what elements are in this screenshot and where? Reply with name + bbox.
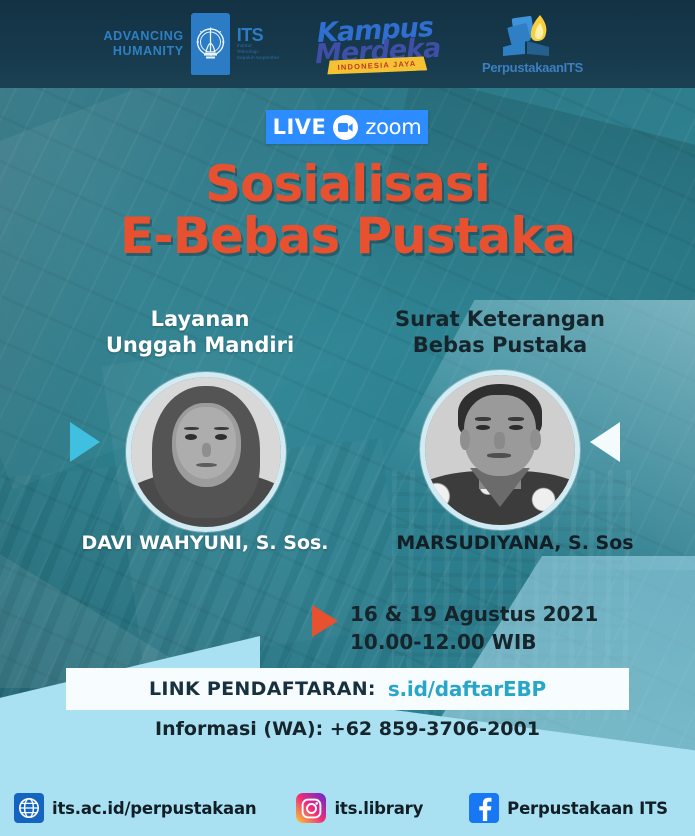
its-abbr: ITS xyxy=(237,27,280,43)
speaker-topic-right-line2: Bebas Pustaka xyxy=(375,332,625,358)
page-title: Sosialisasi E-Bebas Pustaka xyxy=(0,158,695,262)
kampus-merdeka-ribbon-text: INDONESIA JAYA xyxy=(338,59,417,72)
speaker-name-right: MARSUDIYANA, S. Sos xyxy=(370,532,660,554)
logo-kampus-merdeka: Kampus Merdeka INDONESIA JAYA xyxy=(315,11,437,77)
footer-label-website: its.ac.id/perpustakaan xyxy=(52,799,256,818)
schedule-time: 10.00-12.00 WIB xyxy=(350,628,598,656)
registration-label: LINK PENDAFTARAN: xyxy=(149,678,376,700)
live-zoom-badge: LIVE zoom xyxy=(266,110,428,144)
footer-bar: its.ac.id/perpustakaan its.library Perpu… xyxy=(0,780,695,836)
speaker-photo-marsudiyana xyxy=(420,370,580,530)
title-line1: Sosialisasi xyxy=(205,155,490,213)
logo-its: ADVANCING HUMANITY ITS xyxy=(104,13,280,75)
instagram-icon xyxy=(296,793,326,823)
registration-link-bar[interactable]: LINK PENDAFTARAN: s.id/daftarEBP xyxy=(66,668,629,710)
footer-item-instagram[interactable]: its.library xyxy=(296,793,423,823)
its-tagline-line2: HUMANITY xyxy=(104,44,184,59)
title-line2: E-Bebas Pustaka xyxy=(0,210,695,262)
speaker-photo-davi-wahyuni xyxy=(126,372,286,532)
header-logos: ADVANCING HUMANITY ITS xyxy=(0,0,695,88)
footer-item-website[interactable]: its.ac.id/perpustakaan xyxy=(14,793,256,823)
schedule-date: 16 & 19 Agustus 2021 xyxy=(350,600,598,628)
its-tagline-line1: ADVANCING xyxy=(104,29,184,44)
avatar xyxy=(131,377,281,527)
book-flame-icon xyxy=(499,11,565,57)
poster-canvas: ADVANCING HUMANITY ITS xyxy=(0,0,695,836)
footer-label-facebook: Perpustakaan ITS xyxy=(507,799,668,818)
live-label: LIVE xyxy=(273,115,327,139)
zoom-label: zoom xyxy=(365,115,421,139)
video-camera-icon xyxy=(333,115,358,140)
triangle-right-icon-left xyxy=(70,422,100,462)
speaker-topic-right: Surat Keterangan Bebas Pustaka xyxy=(375,306,625,358)
logo-perpustakaan-its: PerpustakaanITS xyxy=(473,9,591,79)
its-abbr-block: ITS Institut Teknologi Sepuluh Nopember xyxy=(237,27,280,61)
registration-url[interactable]: s.id/daftarEBP xyxy=(388,677,546,701)
triangle-right-icon-schedule xyxy=(312,605,338,637)
globe-icon xyxy=(14,793,44,823)
its-shield-icon xyxy=(191,13,230,75)
schedule-block: 16 & 19 Agustus 2021 10.00-12.00 WIB xyxy=(350,600,598,656)
footer-item-facebook[interactable]: Perpustakaan ITS xyxy=(469,793,668,823)
contact-info-line: Informasi (WA): +62 859-3706-2001 xyxy=(0,718,695,740)
speaker-topic-left-line2: Unggah Mandiri xyxy=(80,332,320,358)
speaker-name-left: DAVI WAHYUNI, S. Sos. xyxy=(60,532,350,554)
facebook-icon xyxy=(469,793,499,823)
speaker-topic-left-line1: Layanan xyxy=(80,306,320,332)
avatar xyxy=(425,375,575,525)
speaker-topic-left: Layanan Unggah Mandiri xyxy=(80,306,320,358)
its-tagline: ADVANCING HUMANITY xyxy=(104,29,184,59)
footer-label-instagram: its.library xyxy=(334,799,423,818)
its-sub-line3: Sepuluh Nopember xyxy=(237,55,280,61)
perpustakaan-its-label: PerpustakaanITS xyxy=(473,60,591,75)
triangle-left-icon-right xyxy=(590,422,620,462)
speaker-topic-right-line1: Surat Keterangan xyxy=(375,306,625,332)
